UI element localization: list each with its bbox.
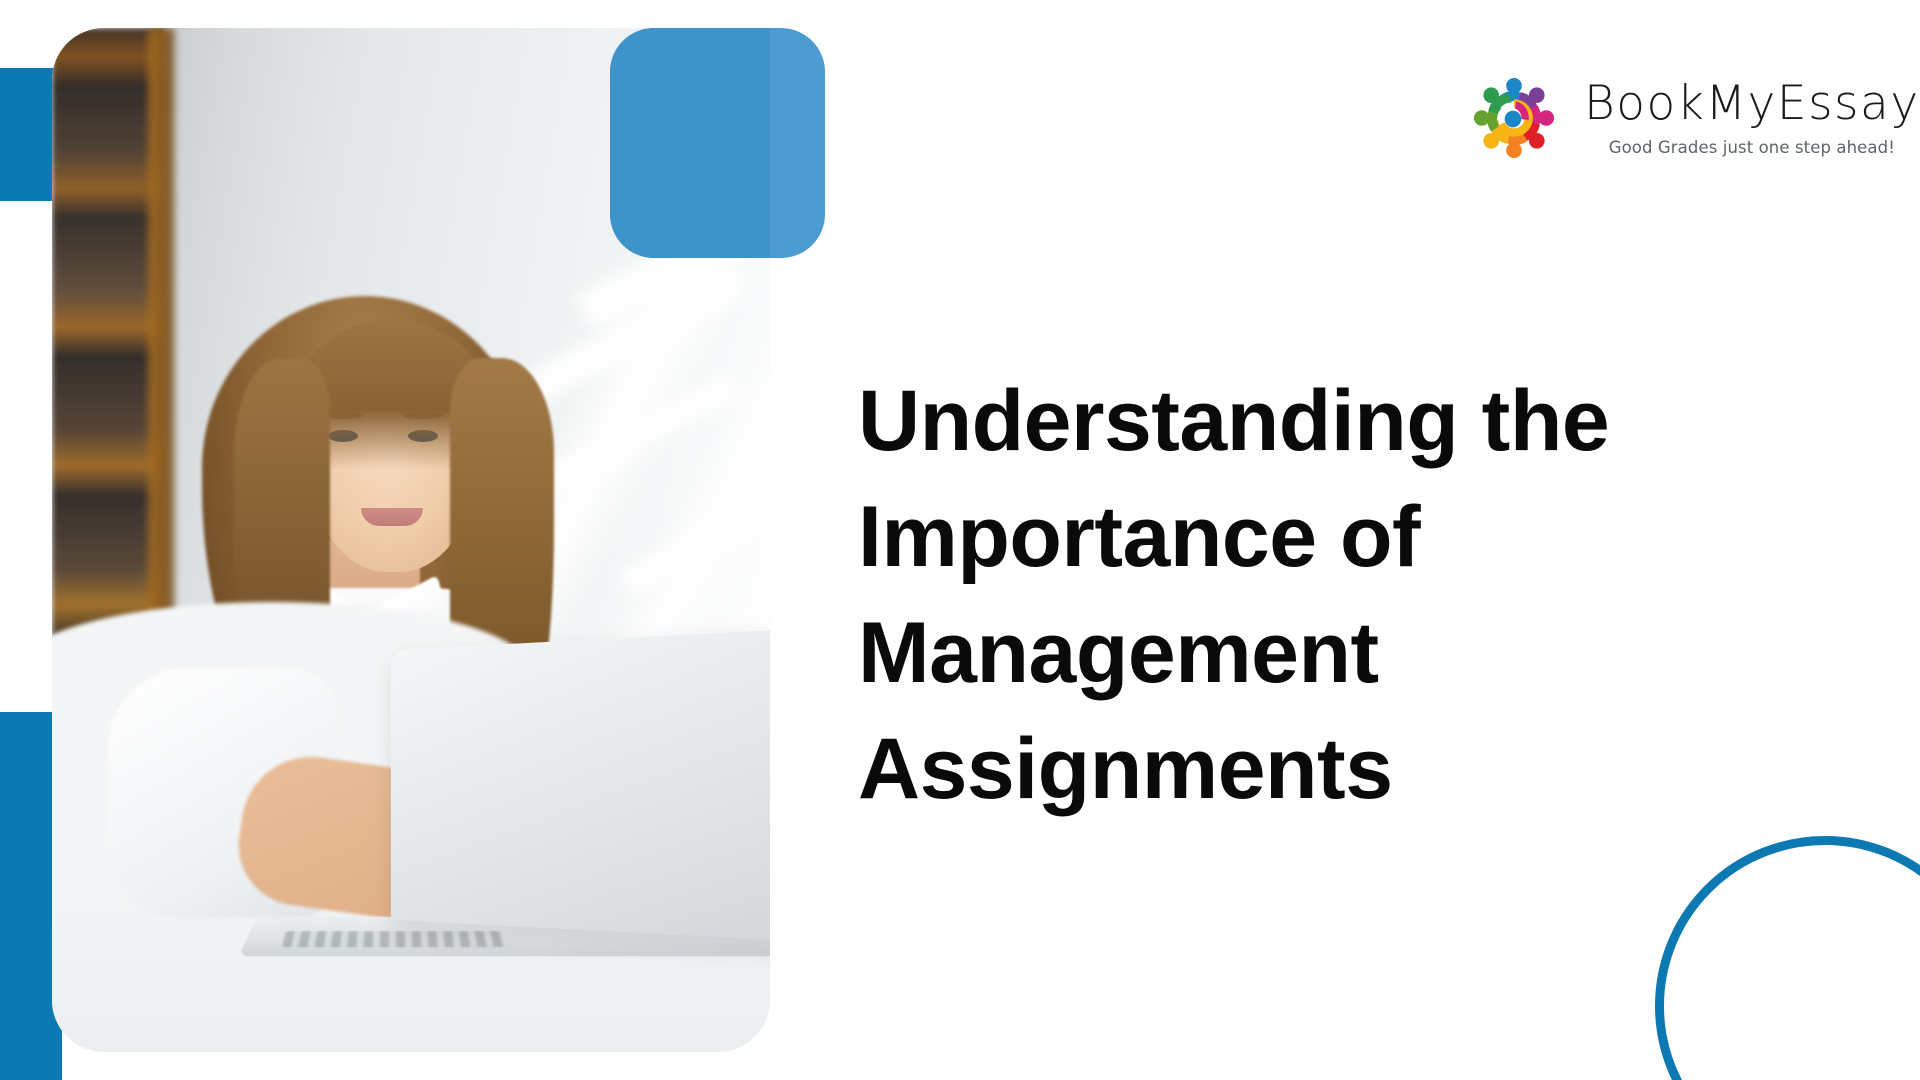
page-title: Understanding the Importance of Manageme…: [858, 363, 1868, 827]
people-circle-logo-icon: [1462, 66, 1566, 170]
headline-line-4: Assignments: [858, 711, 1868, 827]
brand-text: BookMyEssay Good Grades just one step ah…: [1584, 80, 1920, 157]
laptop-screen: [391, 628, 770, 941]
slide-canvas: BookMyEssay Good Grades just one step ah…: [0, 0, 1920, 1080]
brand-name: BookMyEssay: [1584, 80, 1920, 127]
person-mouth: [361, 508, 423, 526]
brand-logo[interactable]: BookMyEssay Good Grades just one step ah…: [1462, 66, 1920, 170]
decor-rounded-square-overlay: [610, 28, 770, 258]
headline-line-2: Importance of: [858, 479, 1868, 595]
headline-line-1: Understanding the: [858, 363, 1868, 479]
brand-tagline: Good Grades just one step ahead!: [1609, 140, 1895, 157]
headline-line-3: Management: [858, 595, 1868, 711]
laptop-keyboard: [282, 931, 506, 947]
decor-circle-outline: [1655, 836, 1920, 1080]
